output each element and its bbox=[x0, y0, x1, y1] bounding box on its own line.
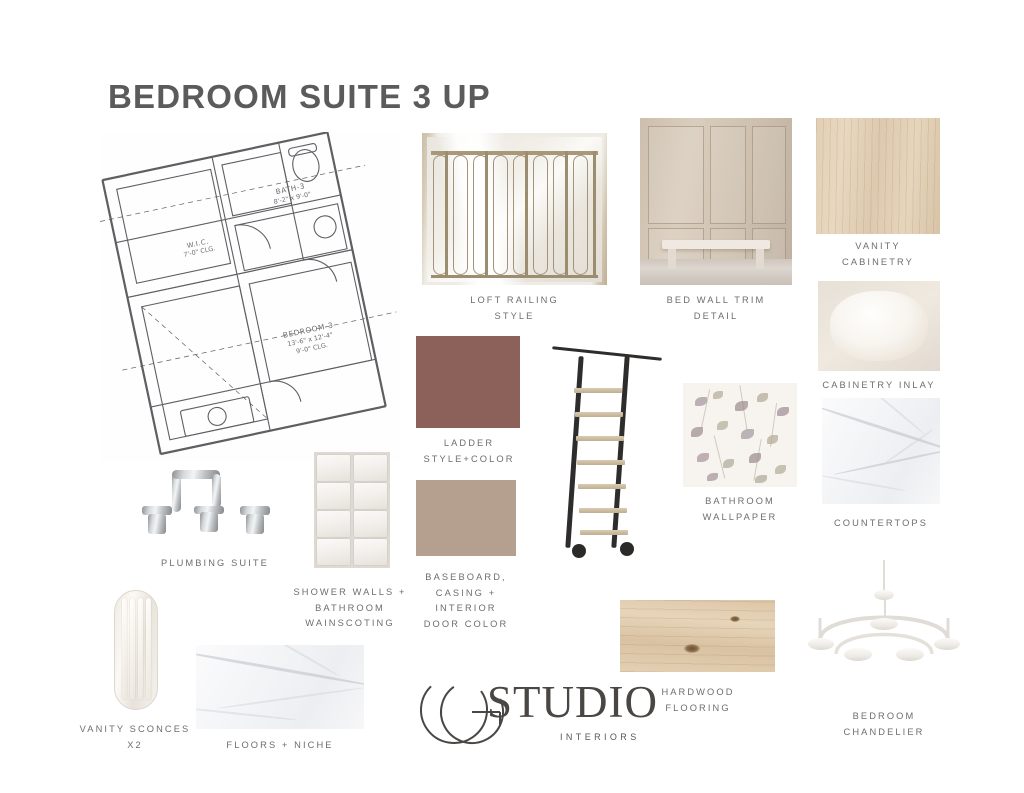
vanity-cabinetry-swatch bbox=[816, 118, 940, 234]
vanity-sconce-image bbox=[100, 586, 170, 712]
page-title: BEDROOM SUITE 3 UP bbox=[108, 78, 491, 116]
floors-niche-swatch bbox=[196, 645, 364, 729]
caption-floors-niche: FLOORS + NICHE bbox=[205, 738, 355, 754]
bed-wall-trim-image bbox=[640, 118, 792, 285]
caption-cabinetry-inlay: CABINETRY INLAY bbox=[800, 378, 958, 394]
caption-countertops: COUNTERTOPS bbox=[800, 516, 962, 532]
plumbing-suite-image bbox=[132, 462, 292, 548]
logo-wordmark: STUDIO bbox=[487, 680, 658, 725]
caption-bathroom-wallpaper: BATHROOM WALLPAPER bbox=[665, 494, 815, 525]
caption-plumbing-suite: PLUMBING SUITE bbox=[140, 556, 290, 572]
caption-bedroom-chandelier: BEDROOM CHANDELIER bbox=[806, 709, 962, 740]
cabinetry-inlay-swatch bbox=[818, 281, 940, 371]
caption-shower-walls: SHOWER WALLS + BATHROOM WAINSCOTING bbox=[275, 585, 425, 632]
logo-subtitle: INTERIORS bbox=[560, 732, 640, 742]
bedroom-chandelier-image bbox=[800, 556, 968, 696]
caption-vanity-cabinetry: VANITY CABINETRY bbox=[800, 239, 956, 270]
rolling-ladder-image bbox=[540, 330, 666, 570]
countertops-swatch bbox=[822, 398, 940, 504]
caption-loft-railing: LOFT RAILING STYLE bbox=[422, 293, 607, 324]
brand-logo: STUDIO INTERIORS bbox=[414, 672, 629, 748]
shower-wall-tile-swatch bbox=[314, 452, 390, 568]
mood-board: BEDROOM SUITE 3 UP bbox=[0, 0, 1024, 793]
bathroom-wallpaper-swatch bbox=[683, 383, 797, 487]
caption-ladder-style: LADDER STYLE+COLOR bbox=[396, 436, 542, 467]
hardwood-flooring-swatch bbox=[620, 600, 775, 672]
baseboard-color-swatch bbox=[416, 480, 516, 556]
floor-plan-image: BATH-3 8'-2" x 9'-0" W.I.C. 7'-0" CLG. B… bbox=[100, 132, 400, 462]
loft-railing-image bbox=[422, 133, 607, 285]
caption-vanity-sconces: VANITY SCONCES X2 bbox=[62, 722, 208, 753]
caption-bed-wall-trim: BED WALL TRIM DETAIL bbox=[640, 293, 792, 324]
ladder-color-swatch bbox=[416, 336, 520, 428]
